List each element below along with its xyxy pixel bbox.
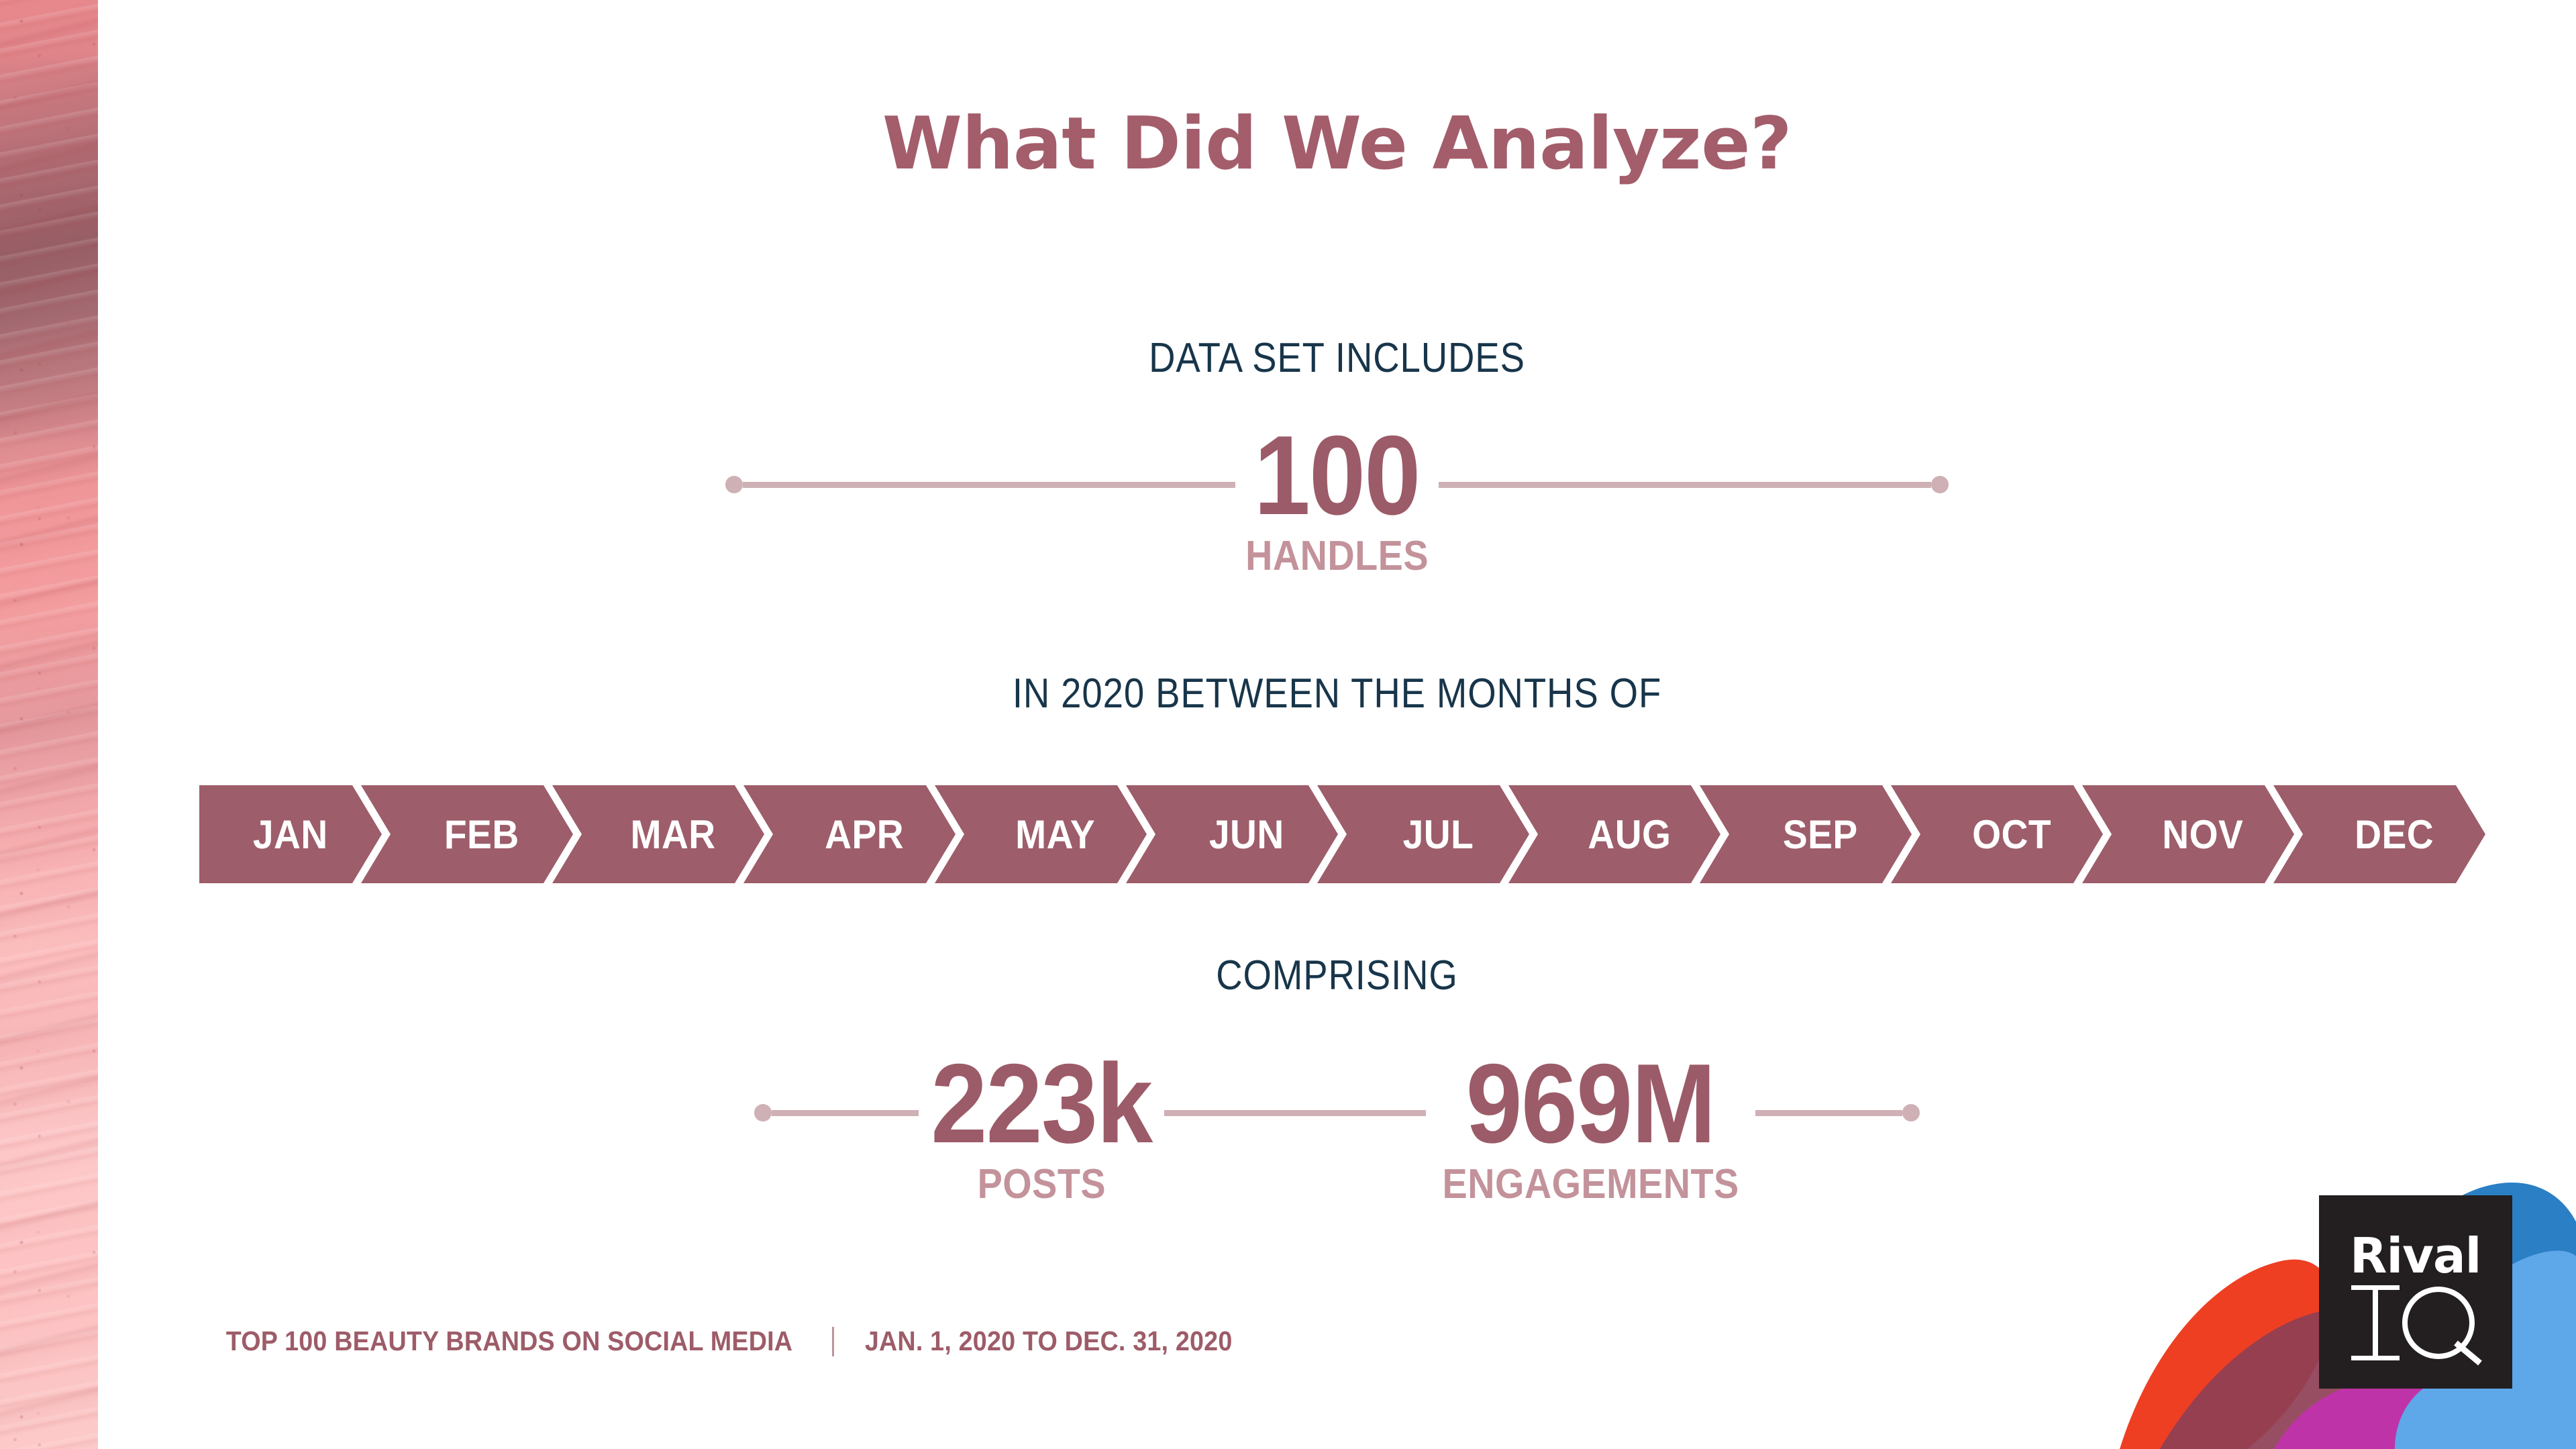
- handles-stat-row: 100 HANDLES: [98, 420, 2576, 580]
- month-label: MAY: [1016, 811, 1096, 858]
- decorative-texture-band: [0, 0, 98, 1449]
- connector-bar: [743, 482, 1235, 488]
- month-chip-mar: MAR: [552, 785, 764, 883]
- logo-wordmark: Rival: [2350, 1228, 2481, 1284]
- month-label: MAR: [630, 811, 715, 858]
- stat-block-engagements: 969M ENGAGEMENTS: [1426, 1048, 1755, 1208]
- page-title: What Did We Analyze?: [98, 102, 2576, 186]
- connector-line-left: [725, 420, 1235, 549]
- connector-bar: [1164, 1110, 1426, 1116]
- month-chip-apr: APR: [743, 785, 956, 883]
- connector-line-right: [1439, 420, 1949, 549]
- month-label: JUN: [1209, 811, 1284, 858]
- months-kicker-label: IN 2020 BETWEEN THE MONTHS OF: [247, 670, 2428, 717]
- month-chip-jul: JUL: [1317, 785, 1529, 883]
- handles-value: 100: [1254, 420, 1420, 531]
- connector-line-left: [754, 1048, 919, 1177]
- engagements-label: ENGAGEMENTS: [1442, 1160, 1739, 1208]
- month-label: OCT: [1972, 811, 2051, 858]
- connector-line-right: [1755, 1048, 1920, 1177]
- month-chip-oct: OCT: [1891, 785, 2103, 883]
- month-chip-may: MAY: [935, 785, 1147, 883]
- logo-iq-icon: [2349, 1281, 2483, 1370]
- month-label: DEC: [2355, 811, 2434, 858]
- month-chip-jan: JAN: [199, 785, 382, 883]
- posts-label: POSTS: [977, 1160, 1105, 1208]
- connector-dot-icon: [1931, 476, 1949, 493]
- connector-dot-icon: [1902, 1104, 1920, 1121]
- month-chip-aug: AUG: [1508, 785, 1720, 883]
- connector-line-middle: [1164, 1048, 1426, 1177]
- footer-attribution: TOP 100 BEAUTY BRANDS ON SOCIAL MEDIA JA…: [201, 1326, 1248, 1357]
- month-chip-sep: SEP: [1700, 785, 1912, 883]
- stat-block-posts: 223k POSTS: [919, 1048, 1164, 1208]
- connector-dot-icon: [725, 476, 743, 493]
- texture-speckle: [0, 0, 98, 1449]
- month-label: JUL: [1402, 811, 1474, 858]
- footer-date-range: JAN. 1, 2020 TO DEC. 31, 2020: [865, 1326, 1233, 1357]
- connector-bar: [772, 1110, 919, 1116]
- footer-source-text: TOP 100 BEAUTY BRANDS ON SOCIAL MEDIA: [226, 1326, 793, 1357]
- month-chevron-bar: JAN FEB MAR APR MAY JUN JUL AUG SEP OCT …: [199, 785, 2494, 883]
- month-chip-jun: JUN: [1126, 785, 1338, 883]
- connector-bar: [1439, 482, 1931, 488]
- blob-red: [2120, 1260, 2332, 1449]
- handles-label: HANDLES: [1245, 532, 1429, 580]
- stat-block-handles: 100 HANDLES: [1235, 420, 1439, 580]
- month-chip-dec: DEC: [2273, 785, 2485, 883]
- posts-value: 223k: [931, 1048, 1151, 1159]
- posts-engagements-stat-row: 223k POSTS 969M ENGAGEMENTS: [98, 1048, 2576, 1208]
- blob-magenta: [2274, 1381, 2482, 1449]
- connector-dot-icon: [754, 1104, 772, 1121]
- month-label: JAN: [253, 811, 328, 858]
- month-chip-feb: FEB: [361, 785, 573, 883]
- month-label: FEB: [444, 811, 519, 858]
- month-label: SEP: [1783, 811, 1858, 858]
- rival-iq-logo: Rival: [2319, 1195, 2512, 1389]
- month-label: AUG: [1588, 811, 1671, 858]
- month-label: APR: [825, 811, 904, 858]
- month-chip-nov: NOV: [2082, 785, 2294, 883]
- engagements-value: 969M: [1466, 1048, 1715, 1159]
- dataset-kicker-label: DATA SET INCLUDES: [247, 334, 2428, 382]
- comprising-kicker-label: COMPRISING: [247, 952, 2428, 999]
- footer-divider: [832, 1327, 834, 1356]
- connector-bar: [1755, 1110, 1902, 1116]
- month-label: NOV: [2162, 811, 2243, 858]
